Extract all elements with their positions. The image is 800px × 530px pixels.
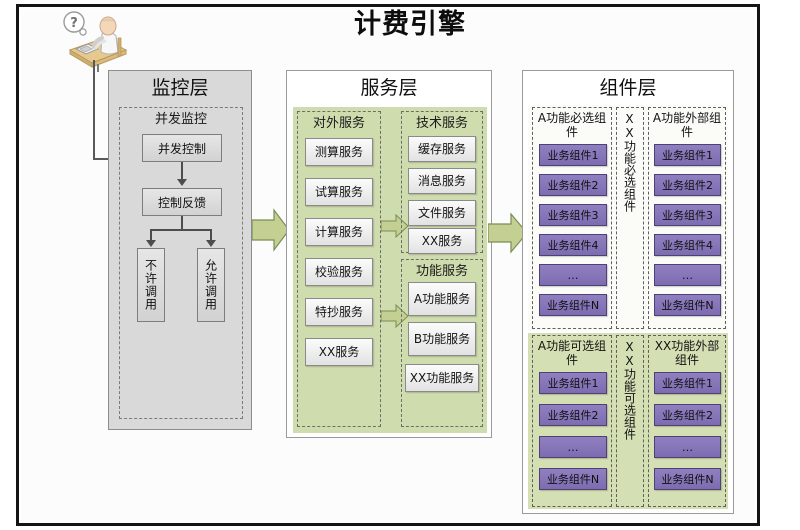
service-box-jiaoyan[interactable]: 校验服务 (305, 258, 373, 286)
monitor-layer-title: 监控层 (109, 71, 251, 101)
component-group-a-required-title: A功能必选组件 (533, 108, 611, 139)
component-box[interactable]: 业务组件N (539, 468, 607, 490)
component-group-a-optional: A功能可选组件 业务组件1 业务组件2 … 业务组件N (532, 335, 612, 507)
component-box[interactable]: 业务组件2 (654, 404, 721, 426)
service-box-jisuan[interactable]: 计算服务 (305, 218, 373, 246)
service-box-a-function[interactable]: A功能服务 (408, 282, 476, 316)
functional-service-title: 功能服务 (402, 260, 482, 281)
component-box[interactable]: 业务组件2 (539, 174, 607, 196)
component-group-a-required: A功能必选组件 业务组件1 业务组件2 业务组件3 业务组件4 … 业务组件N (532, 107, 612, 329)
component-group-xx-required: XX功能必选组件 (616, 107, 644, 329)
flow-arrowhead-left-icon (146, 240, 156, 247)
flow-arrowhead-right-icon (206, 240, 216, 247)
component-box-ellipsis[interactable]: … (539, 436, 607, 458)
component-group-xx-optional: XX功能可选组件 (616, 335, 644, 507)
monitor-layer-panel[interactable]: 监控层 并发监控 并发控制 控制反馈 不许调用 允许调用 (108, 70, 252, 430)
component-group-xx-external-title: XX功能外部组件 (649, 336, 725, 367)
flow-arrowhead-1-icon (177, 179, 187, 186)
arrow-monitor-to-service-icon (252, 208, 290, 256)
component-box[interactable]: 业务组件N (654, 294, 721, 316)
component-box[interactable]: 业务组件1 (654, 144, 721, 166)
component-layer-title: 组件层 (523, 71, 733, 101)
flow-line-2 (181, 216, 183, 230)
concurrency-monitor-group: 并发监控 并发控制 控制反馈 不许调用 允许调用 (119, 107, 243, 419)
component-lower-block: A功能可选组件 业务组件1 业务组件2 … 业务组件N XX功能可选组件 XX功… (528, 333, 728, 509)
monitor-box-control-feedback[interactable]: 控制反馈 (142, 188, 222, 216)
technical-service-group: 技术服务 缓存服务 消息服务 文件服务 XX服务 (401, 111, 483, 253)
component-group-xx-external: XX功能外部组件 业务组件1 业务组件2 … 业务组件N (648, 335, 726, 507)
service-layer-panel[interactable]: 服务层 对外服务 测算服务 试算服务 计算服务 校验服务 特抄服务 XX服务 (286, 70, 492, 438)
component-box[interactable]: 业务组件2 (654, 174, 721, 196)
monitor-box-concurrency-control[interactable]: 并发控制 (142, 134, 222, 162)
flow-line-branch (150, 229, 212, 231)
functional-service-group: 功能服务 A功能服务 B功能服务 XX功能服务 (401, 259, 483, 427)
component-box[interactable]: 业务组件1 (539, 372, 607, 394)
component-box-ellipsis[interactable]: … (654, 436, 721, 458)
service-layer-body: 对外服务 测算服务 试算服务 计算服务 校验服务 特抄服务 XX服务 (293, 107, 487, 433)
component-group-a-optional-title: A功能可选组件 (533, 336, 611, 367)
component-group-xx-optional-title: XX功能可选组件 (622, 340, 639, 440)
component-box[interactable]: 业务组件2 (539, 404, 607, 426)
component-box[interactable]: 业务组件N (654, 468, 721, 490)
component-group-xx-required-title: XX功能必选组件 (622, 112, 639, 212)
service-box-file[interactable]: 文件服务 (408, 200, 476, 226)
component-box[interactable]: 业务组件4 (539, 234, 607, 256)
connector-vertical (93, 60, 95, 159)
component-box[interactable]: 业务组件4 (654, 234, 721, 256)
flow-line-1 (181, 162, 183, 180)
concurrency-monitor-title: 并发监控 (120, 108, 242, 129)
component-box[interactable]: 业务组件1 (539, 144, 607, 166)
service-box-b-function[interactable]: B功能服务 (408, 322, 476, 356)
service-box-cesuan[interactable]: 测算服务 (305, 138, 373, 166)
svg-text:?: ? (70, 16, 78, 31)
external-service-group: 对外服务 测算服务 试算服务 计算服务 校验服务 特抄服务 XX服务 (297, 111, 381, 427)
component-box[interactable]: 业务组件3 (539, 204, 607, 226)
diagram-canvas: 计费引擎 ? (0, 0, 800, 530)
component-box[interactable]: 业务组件1 (654, 372, 721, 394)
monitor-box-deny-call[interactable]: 不许调用 (137, 248, 165, 322)
component-box[interactable]: 业务组件N (539, 294, 607, 316)
component-layer-panel[interactable]: 组件层 A功能必选组件 业务组件1 业务组件2 业务组件3 业务组件4 … 业务… (522, 70, 734, 514)
page-title: 计费引擎 (250, 8, 570, 42)
component-group-a-external: A功能外部组件 业务组件1 业务组件2 业务组件3 业务组件4 … 业务组件N (648, 107, 726, 329)
service-box-cache[interactable]: 缓存服务 (408, 136, 476, 162)
component-upper-block: A功能必选组件 业务组件1 业务组件2 业务组件3 业务组件4 … 业务组件N … (528, 105, 728, 331)
component-box[interactable]: 业务组件3 (654, 204, 721, 226)
component-box-ellipsis[interactable]: … (539, 264, 607, 286)
service-layer-title: 服务层 (287, 71, 491, 101)
service-box-shisuan[interactable]: 试算服务 (305, 178, 373, 206)
service-box-xx[interactable]: XX服务 (305, 338, 373, 366)
service-box-xx-tech[interactable]: XX服务 (408, 228, 476, 254)
external-service-title: 对外服务 (298, 112, 380, 133)
component-group-a-external-title: A功能外部组件 (649, 108, 725, 139)
monitor-box-allow-call[interactable]: 允许调用 (197, 248, 225, 322)
technical-service-title: 技术服务 (402, 112, 482, 133)
service-box-techao[interactable]: 特抄服务 (305, 298, 373, 326)
service-box-xx-function[interactable]: XX功能服务 (405, 364, 479, 392)
service-box-message[interactable]: 消息服务 (408, 168, 476, 194)
component-box-ellipsis[interactable]: … (654, 264, 721, 286)
